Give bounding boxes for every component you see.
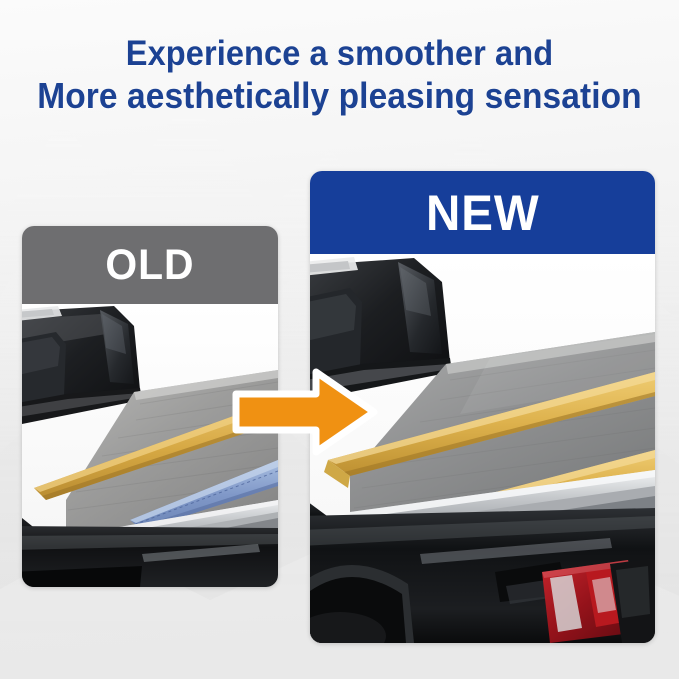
headline-line-1: Experience a smoother and [24,33,655,75]
old-panel-header: OLD [22,226,278,304]
page-title: Experience a smoother and More aesthetic… [0,33,679,117]
upgrade-arrow [232,366,378,458]
new-panel-header: NEW [310,171,655,254]
headline-line-2: More aesthetically pleasing sensation [24,75,655,117]
arrow-right-icon [232,366,378,458]
new-label: NEW [426,188,540,238]
old-label: OLD [105,244,194,287]
